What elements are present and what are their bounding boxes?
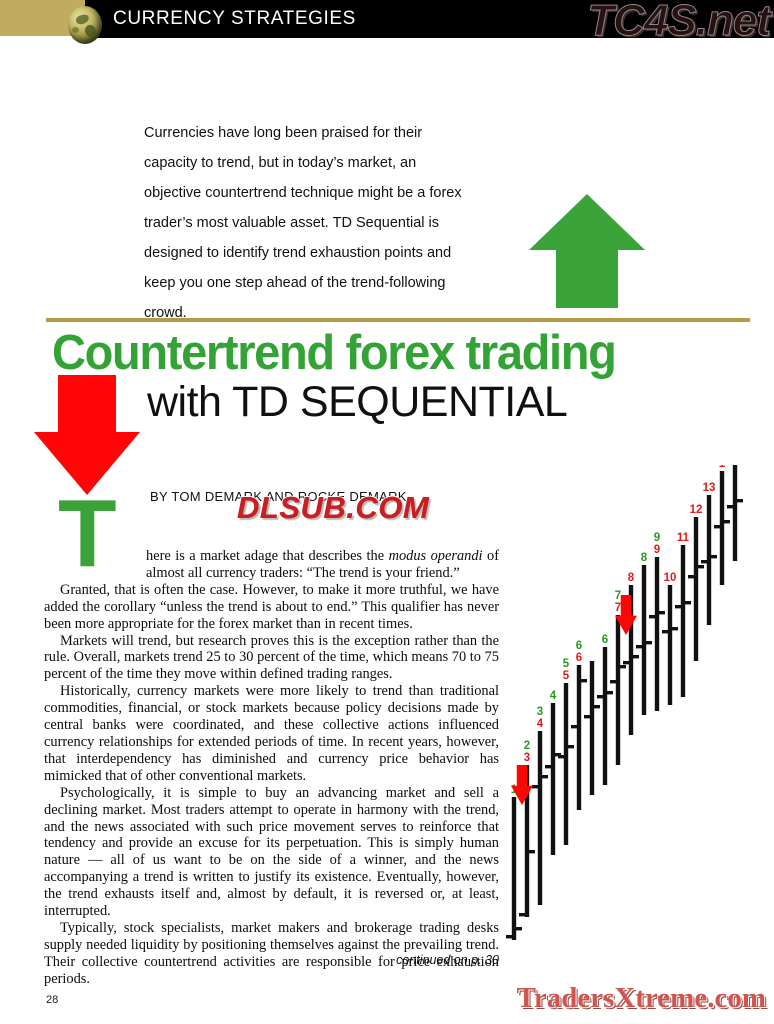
page-header: CURRENCY STRATEGIES TC4S.net bbox=[0, 0, 774, 44]
ohlc-bar bbox=[662, 585, 678, 705]
setup-label: 9 bbox=[654, 532, 660, 544]
headline-line-1: Countertrend forex trading bbox=[52, 325, 743, 381]
article-paragraph: Granted, that is often the case. However… bbox=[44, 582, 499, 633]
countdown-label: 6 bbox=[576, 652, 582, 664]
headline-rule bbox=[46, 318, 750, 322]
hero-down-arrow-icon bbox=[32, 372, 142, 497]
ohlc-bar bbox=[506, 797, 522, 940]
article-paragraph: Psychologically, it is simple to buy an … bbox=[44, 785, 499, 920]
countdown-label: 11 bbox=[677, 532, 690, 544]
setup-label: 4 bbox=[550, 690, 557, 702]
setup-label: 6 bbox=[576, 640, 582, 652]
ohlc-bar bbox=[675, 545, 691, 697]
ohlc-bar bbox=[532, 731, 548, 905]
ohlc-bar bbox=[701, 495, 717, 625]
article-paragraph: Historically, currency markets were more… bbox=[44, 683, 499, 784]
countdown-label: 1 bbox=[719, 465, 726, 470]
section-kicker: CURRENCY STRATEGIES bbox=[113, 8, 356, 30]
chart-canvas: 132434556667788991011121312 bbox=[500, 465, 774, 970]
ohlc-bar bbox=[727, 465, 743, 561]
hero-up-arrow-icon bbox=[528, 190, 646, 310]
setup-label: 5 bbox=[563, 658, 570, 670]
article-deck: Currencies have long been praised for th… bbox=[144, 118, 474, 328]
ohlc-bar bbox=[649, 557, 665, 711]
countdown-label: 13 bbox=[703, 482, 716, 494]
setup-label: 2 bbox=[524, 740, 530, 752]
article-paragraph: here is a market adage that describes th… bbox=[44, 548, 499, 582]
page-number: 28 bbox=[46, 994, 58, 1006]
setup-label: 6 bbox=[602, 634, 608, 646]
countdown-label: 4 bbox=[537, 718, 544, 730]
countdown-label: 8 bbox=[628, 572, 635, 584]
ohlc-bar bbox=[571, 665, 587, 810]
ohlc-bar bbox=[636, 565, 652, 715]
ohlc-bar bbox=[558, 683, 574, 845]
td-sequential-chart: 132434556667788991011121312 bbox=[500, 465, 774, 970]
setup-label: 8 bbox=[641, 552, 648, 564]
watermark-tradersxtreme: TradersXtreme.com bbox=[517, 982, 766, 1015]
watermark-dlsub-ink: DLSUB.COM bbox=[237, 490, 429, 526]
globe-icon bbox=[68, 6, 102, 44]
ohlc-bar bbox=[688, 517, 704, 661]
countdown-label: 12 bbox=[690, 504, 703, 516]
countdown-label: 7 bbox=[615, 602, 621, 614]
continued-note: continued on p. 30 bbox=[44, 953, 499, 967]
ohlc-bar bbox=[714, 471, 730, 585]
countdown-label: 10 bbox=[664, 572, 677, 584]
watermark-tc4s: TC4S.net bbox=[587, 0, 770, 46]
setup-label: 3 bbox=[537, 706, 543, 718]
ohlc-bar bbox=[610, 615, 626, 765]
ohlc-bar bbox=[597, 647, 613, 785]
countdown-label: 5 bbox=[563, 670, 570, 682]
setup-label: 7 bbox=[615, 590, 621, 602]
countdown-label: 3 bbox=[524, 752, 530, 764]
article-paragraph: Markets will trend, but research proves … bbox=[44, 633, 499, 684]
ohlc-bar bbox=[545, 703, 561, 855]
countdown-label: 9 bbox=[654, 544, 660, 556]
article-body: here is a market adage that describes th… bbox=[44, 548, 499, 988]
headline-line-2: with TD SEQUENTIAL bbox=[147, 378, 767, 427]
